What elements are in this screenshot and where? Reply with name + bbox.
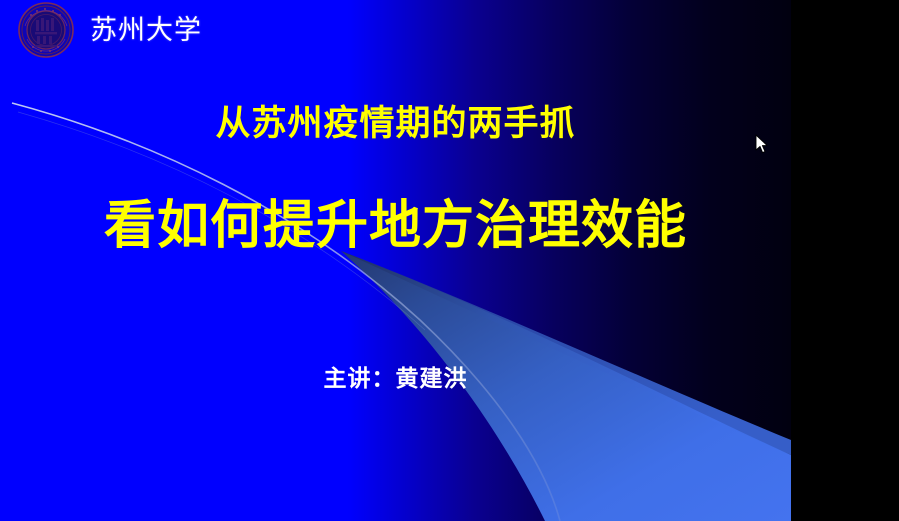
- slide-canvas[interactable]: 苏州大学 从苏州疫情期的两手抓 看如何提升地方治理效能 主讲：黄建洪: [0, 0, 791, 521]
- background-thin-curve-secondary: [18, 112, 425, 330]
- letterbox-right: [791, 0, 899, 521]
- slide-background-artwork: [0, 0, 791, 521]
- presenter-label: 主讲：黄建洪: [0, 363, 791, 395]
- slide-header: 苏州大学: [16, 1, 202, 59]
- university-name: 苏州大学: [90, 17, 202, 44]
- seal-svg: [16, 1, 76, 59]
- presentation-screen: 苏州大学 从苏州疫情期的两手抓 看如何提升地方治理效能 主讲：黄建洪: [0, 0, 899, 521]
- suzhou-university-seal-icon: [16, 1, 76, 59]
